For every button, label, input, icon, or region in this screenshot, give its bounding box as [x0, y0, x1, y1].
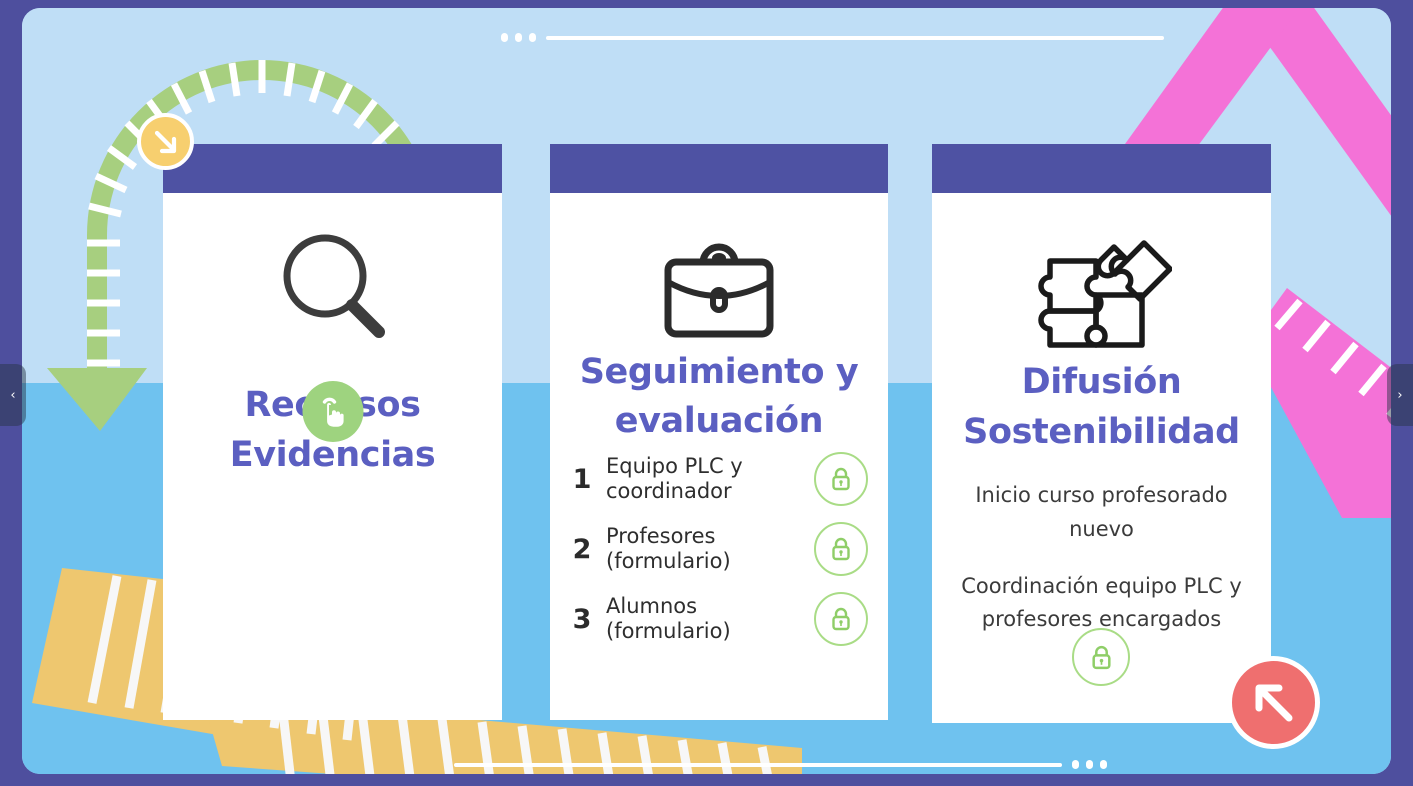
chevron-right-icon: ›	[1397, 388, 1402, 403]
card-subtitle-paragraph: Inicio curso profesorado nuevo	[946, 479, 1257, 545]
step-number: 2	[570, 534, 594, 565]
card-title: Seguimiento y evaluación	[564, 348, 874, 446]
step-label: Equipo PLC y coordinador	[606, 454, 802, 505]
card-subtitle-paragraph: Coordinación equipo PLC y profesores enc…	[946, 570, 1257, 636]
card-seguimiento-evaluacion[interactable]: Seguimiento y evaluación 1 Equipo PLC y …	[550, 144, 888, 720]
lock-icon	[1090, 645, 1113, 670]
briefcase-icon	[564, 223, 874, 348]
slide-canvas: Recursos Evidencias	[22, 8, 1391, 774]
card-title: Difusión Sostenibilidad	[946, 358, 1257, 457]
hand-click-icon	[318, 396, 348, 428]
lock-icon-button[interactable]	[814, 452, 868, 506]
rail-dot	[501, 33, 508, 42]
step-row[interactable]: 3 Alumnos (formulario)	[570, 592, 868, 646]
lock-icon	[830, 607, 852, 631]
step-label-line-1: Profesores	[606, 524, 802, 549]
arrow-up-left-marker	[1227, 656, 1320, 749]
puzzle-icon	[946, 223, 1257, 358]
carousel-next-button[interactable]: ›	[1387, 364, 1413, 426]
card-title-line-1: Seguimiento y	[564, 348, 874, 397]
card-body: Seguimiento y evaluación 1 Equipo PLC y …	[550, 223, 888, 646]
arrow-up-left-icon	[1246, 675, 1302, 731]
lock-icon-button[interactable]	[814, 592, 868, 646]
progress-rail-top	[501, 33, 1164, 42]
card-title-line-1: Difusión	[946, 358, 1257, 408]
card-header-bar	[550, 144, 888, 193]
lock-icon-button[interactable]	[814, 522, 868, 576]
rail-dot	[1072, 760, 1079, 769]
step-row[interactable]: 2 Profesores (formulario)	[570, 522, 868, 576]
card-title-line-2: evaluación	[564, 397, 874, 446]
steps-list: 1 Equipo PLC y coordinador	[564, 452, 874, 646]
hand-click-icon-button[interactable]	[302, 381, 363, 442]
card-header-bar	[932, 144, 1271, 193]
step-number: 3	[570, 604, 594, 635]
arrow-down-right-icon	[150, 126, 182, 158]
card-subtitle: Inicio curso profesorado nuevo Coordinac…	[946, 479, 1257, 636]
step-label-line-1: Alumnos	[606, 594, 802, 619]
step-label: Profesores (formulario)	[606, 524, 802, 575]
step-label-line-2: (formulario)	[606, 619, 802, 644]
magnifier-icon	[177, 221, 488, 351]
rail-dot	[1100, 760, 1107, 769]
card-body: Recursos Evidencias	[163, 221, 502, 480]
lock-icon	[830, 537, 852, 561]
card-header-bar	[163, 144, 502, 193]
arrow-down-right-marker	[137, 113, 194, 170]
step-label-line-2: coordinador	[606, 479, 802, 504]
step-label: Alumnos (formulario)	[606, 594, 802, 645]
carousel-prev-button[interactable]: ‹	[0, 364, 26, 426]
card-title-line-2: Sostenibilidad	[946, 408, 1257, 458]
rail-dot	[529, 33, 536, 42]
step-label-line-1: Equipo PLC y	[606, 454, 802, 479]
step-label-line-2: (formulario)	[606, 549, 802, 574]
lock-icon	[830, 467, 852, 491]
card-body: Difusión Sostenibilidad Inicio curso pro…	[932, 223, 1271, 636]
rail-bar	[454, 763, 1062, 767]
step-row[interactable]: 1 Equipo PLC y coordinador	[570, 452, 868, 506]
progress-rail-bottom	[454, 760, 1107, 769]
step-number: 1	[570, 464, 594, 495]
rail-bar	[546, 36, 1164, 40]
slide-root: Recursos Evidencias	[0, 0, 1413, 786]
chevron-left-icon: ‹	[10, 388, 15, 403]
card-recursos-evidencias[interactable]: Recursos Evidencias	[163, 144, 502, 720]
rail-dot	[1086, 760, 1093, 769]
rail-dot	[515, 33, 522, 42]
lock-icon-button-floating[interactable]	[1072, 628, 1130, 686]
